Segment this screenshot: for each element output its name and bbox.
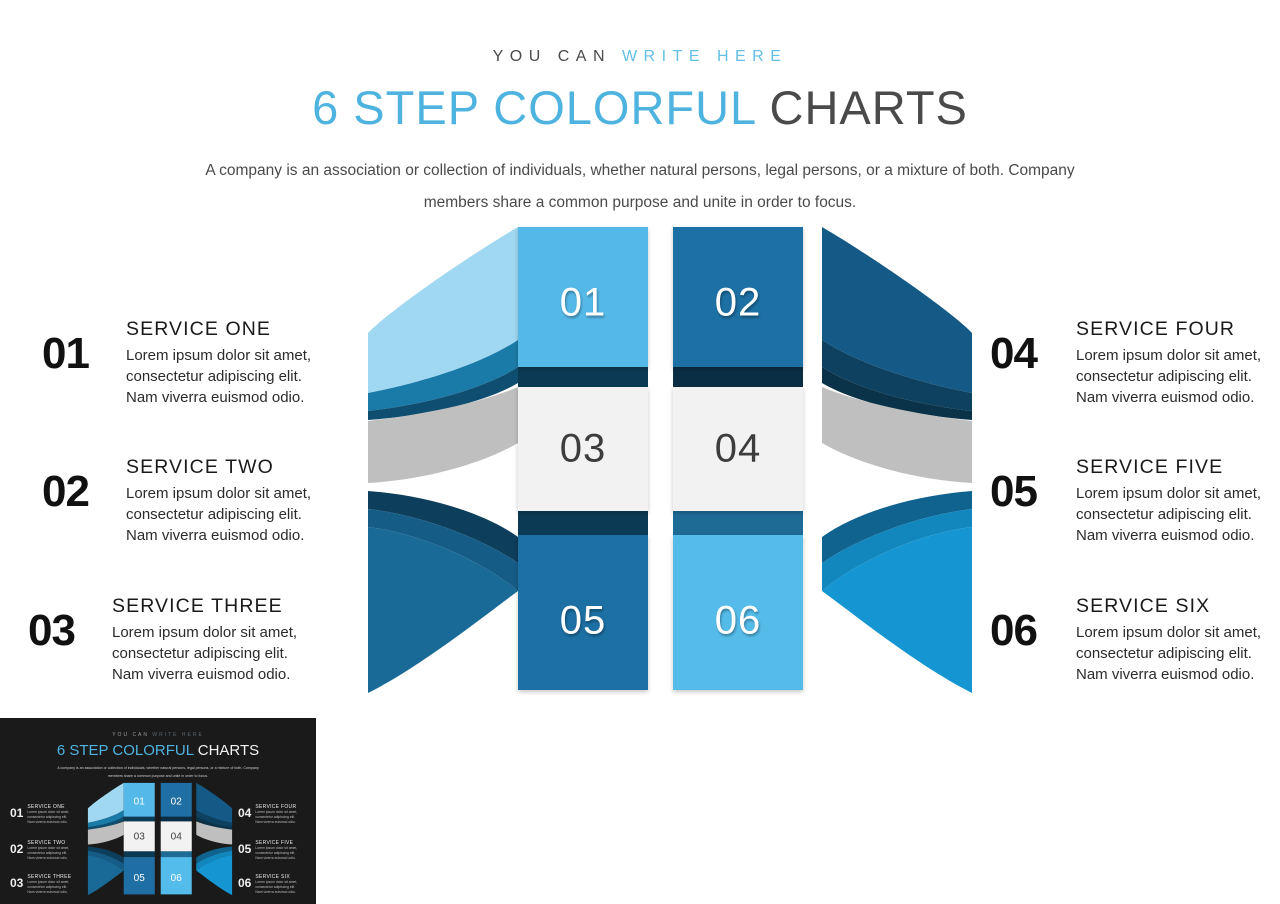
eyebrow-text: YOU CAN WRITE HERE: [0, 48, 1280, 66]
tile-shadow-05: [518, 511, 648, 535]
thumb-tile-shadow-06: [161, 851, 192, 857]
thumb-eyebrow: YOU CAN WRITE HERE: [0, 732, 316, 738]
thumb-eyebrow-plain: YOU CAN: [112, 732, 149, 738]
thumb-tile-shadow-05: [124, 851, 155, 857]
thumb-tile-label-04: 04: [171, 831, 183, 842]
tile-label-04: 04: [715, 427, 762, 471]
service-title: SERVICE ONE: [126, 318, 311, 341]
thumb-title-plain: CHARTS: [198, 742, 259, 759]
thumb-tile-shadow-02: [161, 816, 192, 821]
tile-shadow-06: [673, 511, 803, 535]
title-accent: 6 STEP COLORFUL: [312, 81, 755, 134]
thumb-service-number: 04: [238, 807, 251, 819]
tile-shadow-02: [673, 365, 803, 387]
thumb-service-number: 06: [238, 877, 251, 889]
tile-label-06: 06: [715, 599, 762, 643]
thumb-tile-label-03: 03: [134, 831, 146, 842]
service-number: 03: [28, 609, 98, 653]
thumb-tile-label-01: 01: [134, 796, 146, 807]
title-plain: CHARTS: [770, 81, 968, 134]
thumb-service-number: 01: [10, 807, 23, 819]
service-item-02[interactable]: 02 SERVICE TWO Lorem ipsum dolor sit ame…: [42, 456, 311, 546]
thumb-eyebrow-accent: WRITE HERE: [152, 732, 203, 738]
thumb-service-number: 03: [10, 877, 23, 889]
subtitle-paragraph: A company is an association or collectio…: [195, 155, 1085, 219]
service-description: Lorem ipsum dolor sit amet, consectetur …: [112, 622, 297, 685]
thumb-tile-label-06: 06: [171, 873, 183, 884]
subtitle-line-1: A company is an association or collectio…: [195, 155, 1085, 187]
service-number: 05: [990, 470, 1062, 514]
service-description: Lorem ipsum dolor sit amet, consectetur …: [1076, 483, 1261, 546]
thumb-service-item-02: 02 SERVICE TWO Lorem ipsum dolor sit ame…: [10, 840, 69, 862]
thumb-six-step-diagram: 01 02 03 04 05 06: [86, 780, 234, 898]
eyebrow-accent: WRITE HERE: [622, 48, 787, 65]
service-description: Lorem ipsum dolor sit amet, consectetur …: [1076, 345, 1261, 408]
thumb-service-description: Lorem ipsum dolor sit amet, consectetur …: [255, 810, 297, 826]
tile-label-03: 03: [560, 427, 607, 471]
tile-label-01: 01: [560, 281, 607, 325]
service-item-03[interactable]: 03 SERVICE THREE Lorem ipsum dolor sit a…: [28, 595, 297, 685]
service-item-06[interactable]: 06 SERVICE SIX Lorem ipsum dolor sit ame…: [990, 595, 1261, 685]
thumb-subtitle: A company is an association or collectio…: [42, 764, 274, 780]
thumb-service-description: Lorem ipsum dolor sit amet, consectetur …: [27, 880, 71, 896]
service-item-01[interactable]: 01 SERVICE ONE Lorem ipsum dolor sit ame…: [42, 318, 311, 408]
service-number: 06: [990, 609, 1062, 653]
service-title: SERVICE FOUR: [1076, 318, 1261, 341]
service-number: 01: [42, 332, 112, 376]
thumb-subtitle-line-1: A company is an association or collectio…: [42, 764, 274, 772]
slide-canvas: YOU CAN WRITE HERE 6 STEP COLORFUL CHART…: [0, 0, 1280, 904]
thumb-title-accent: 6 STEP COLORFUL: [57, 742, 194, 759]
thumb-service-number: 02: [10, 843, 23, 855]
page-title: 6 STEP COLORFUL CHARTS: [0, 80, 1280, 135]
service-description: Lorem ipsum dolor sit amet, consectetur …: [1076, 622, 1261, 685]
service-title: SERVICE FIVE: [1076, 456, 1261, 479]
thumb-service-description: Lorem ipsum dolor sit amet, consectetur …: [27, 810, 69, 826]
slide-thumbnail-dark[interactable]: YOU CAN WRITE HERE 6 STEP COLORFUL CHART…: [0, 718, 316, 904]
thumb-service-description: Lorem ipsum dolor sit amet, consectetur …: [27, 846, 69, 862]
thumb-service-description: Lorem ipsum dolor sit amet, consectetur …: [255, 880, 297, 896]
tile-shadow-01: [518, 365, 648, 387]
thumb-title: 6 STEP COLORFUL CHARTS: [0, 742, 316, 759]
thumb-service-item-04: 04 SERVICE FOUR Lorem ipsum dolor sit am…: [238, 804, 297, 826]
service-title: SERVICE THREE: [112, 595, 297, 618]
thumb-tile-label-05: 05: [134, 873, 146, 884]
thumb-service-description: Lorem ipsum dolor sit amet, consectetur …: [255, 846, 297, 862]
thumb-subtitle-line-2: members share a common purpose and unite…: [42, 772, 274, 780]
thumb-service-item-06: 06 SERVICE SIX Lorem ipsum dolor sit ame…: [238, 874, 297, 896]
service-number: 02: [42, 470, 112, 514]
service-description: Lorem ipsum dolor sit amet, consectetur …: [126, 483, 311, 546]
thumb-service-number: 05: [238, 843, 251, 855]
thumb-service-item-01: 01 SERVICE ONE Lorem ipsum dolor sit ame…: [10, 804, 69, 826]
thumb-tile-label-02: 02: [171, 796, 183, 807]
service-item-05[interactable]: 05 SERVICE FIVE Lorem ipsum dolor sit am…: [990, 456, 1261, 546]
service-item-04[interactable]: 04 SERVICE FOUR Lorem ipsum dolor sit am…: [990, 318, 1261, 408]
service-title: SERVICE TWO: [126, 456, 311, 479]
tile-label-02: 02: [715, 281, 762, 325]
six-step-diagram: 01 02 03 04 05 06: [360, 215, 980, 705]
eyebrow-plain: YOU CAN: [493, 48, 611, 65]
thumb-tile-shadow-01: [124, 816, 155, 821]
tile-label-05: 05: [560, 599, 607, 643]
thumb-service-item-03: 03 SERVICE THREE Lorem ipsum dolor sit a…: [10, 874, 71, 896]
service-description: Lorem ipsum dolor sit amet, consectetur …: [126, 345, 311, 408]
service-title: SERVICE SIX: [1076, 595, 1261, 618]
thumb-service-item-05: 05 SERVICE FIVE Lorem ipsum dolor sit am…: [238, 840, 297, 862]
service-number: 04: [990, 332, 1062, 376]
